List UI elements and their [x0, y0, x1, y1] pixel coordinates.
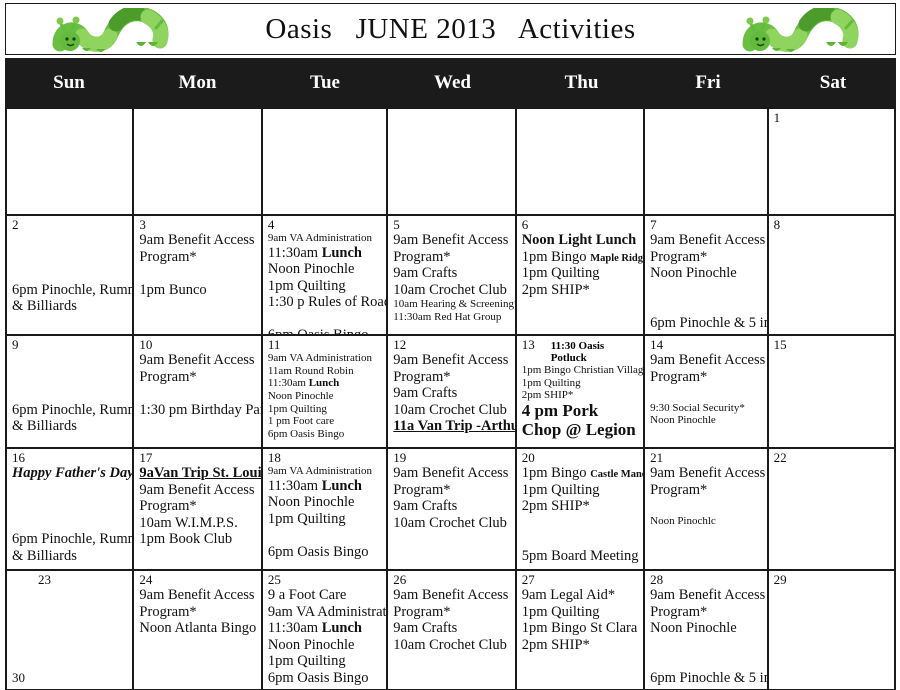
event-item: 9am Legal Aid*: [522, 587, 639, 604]
day-number: 21: [650, 451, 762, 465]
event-item: Noon Pinochle: [650, 265, 762, 282]
day-events: 1pm Bingo Castle Manor1pm Quilting2pm SH…: [522, 465, 639, 564]
day-cell-29[interactable]: 29: [769, 571, 894, 689]
event-item: Program*: [393, 604, 510, 621]
event-item: 9am Benefit Access: [650, 587, 762, 604]
day-cell-6[interactable]: 6Noon Light Lunch1pm Bingo Maple Ridge1p…: [517, 216, 645, 334]
event-item: 1pm Quilting: [268, 278, 382, 295]
event-item: 9am Crafts: [393, 620, 510, 637]
day-cell-10[interactable]: 109am Benefit AccessProgram* 1:30 pm Bir…: [134, 336, 262, 447]
day-cell-18[interactable]: 189am VA Administration11:30am LunchNoon…: [263, 449, 388, 569]
day-events: 1pm Bingo Christian Village1pm Quilting2…: [522, 364, 639, 439]
day-events: 9 a Foot Care9am VA Administration11:30a…: [268, 587, 382, 686]
event-item: Noon Pinochle: [268, 637, 382, 654]
day-events: 9am Legal Aid*1pm Quilting1pm Bingo St C…: [522, 587, 639, 653]
event-item: 10am W.I.M.P.S.: [139, 515, 256, 532]
event-item: 6pm Oasis Bingo: [268, 544, 382, 561]
event-item: Program*: [650, 249, 762, 266]
event-item: 6pm Oasis Bingo: [268, 670, 382, 687]
day-cell-empty[interactable]: [645, 109, 768, 214]
event-item: 1pm Bingo Maple Ridge: [522, 249, 639, 266]
day-number: 6: [522, 218, 639, 232]
day-events: 9am Benefit AccessProgram*9am Crafts10am…: [393, 352, 510, 435]
day-events: 9am Benefit AccessProgram*9am Crafts10am…: [393, 232, 510, 323]
event-item: 9am Benefit Access: [139, 232, 256, 249]
day-cell-28[interactable]: 289am Benefit AccessProgram*Noon Pinochl…: [645, 571, 768, 689]
day-number: 3: [139, 218, 256, 232]
event-item: Noon Pinochle: [268, 494, 382, 511]
event-item: Noon Pinochle: [650, 414, 762, 427]
event-item: 9am Benefit Access: [139, 482, 256, 499]
event-item: 9am Benefit Access: [139, 352, 256, 369]
event-item: 10am Crochet Club: [393, 282, 510, 299]
calendar-week-row: 2330249am Benefit AccessProgram*Noon Atl…: [7, 571, 894, 689]
day-cell-21[interactable]: 219am Benefit AccessProgram* Noon Pinoch…: [645, 449, 768, 569]
event-item: 1 pm Foot care: [268, 415, 382, 428]
event-item: 6pm Pinochle & 5 in: [650, 315, 762, 332]
event-item: Program*: [139, 249, 256, 266]
event-item: 11a Van Trip -Arthur: [393, 418, 510, 435]
day-number: 18: [268, 451, 382, 465]
day-cell-8[interactable]: 8: [769, 216, 894, 334]
day-number: 5: [393, 218, 510, 232]
event-item: Program*: [139, 604, 256, 621]
event-item: Noon Pinochle: [268, 390, 382, 403]
day-cell-20[interactable]: 201pm Bingo Castle Manor1pm Quilting2pm …: [517, 449, 645, 569]
day-events: 9am Benefit AccessProgram*Noon Pinochle …: [650, 587, 762, 686]
event-item: Program*: [139, 498, 256, 515]
day-cell-3[interactable]: 39am Benefit AccessProgram* 1pm Bunco: [134, 216, 262, 334]
event-item: 11:30am Lunch: [268, 620, 382, 637]
day-cell-9[interactable]: 9 6pm Pinochle, Rummy& Billiards: [7, 336, 134, 447]
event-item: 9am Benefit Access: [139, 587, 256, 604]
day-number: 10: [139, 338, 256, 352]
event-item: 9am Benefit Access: [393, 352, 510, 369]
weekday-header-tue: Tue: [262, 58, 388, 108]
day-cell-25[interactable]: 259 a Foot Care9am VA Administration11:3…: [263, 571, 388, 689]
weekday-header-thu: Thu: [517, 58, 646, 108]
event-item: 1:30 p Rules of Road: [268, 294, 382, 311]
page-title: Oasis JUNE 2013 Activities: [265, 13, 635, 46]
event-item: 9am Benefit Access: [650, 352, 762, 369]
day-number: 29: [774, 573, 890, 587]
calendar-week-row: 16Happy Father's Day! 6pm Pinochle, Rumm…: [7, 449, 894, 571]
event-item: Happy Father's Day!: [12, 465, 128, 482]
event-item: 1pm Quilting: [268, 511, 382, 528]
event-item: 10am Hearing & Screening*: [393, 298, 510, 311]
day-number: 23: [12, 573, 128, 587]
day-cell-7[interactable]: 79am Benefit AccessProgram*Noon Pinochle…: [645, 216, 768, 334]
event-item: Noon Atlanta Bingo: [139, 620, 256, 637]
event-item: 6pm Pinochle, Rummy: [12, 282, 128, 299]
day-events: 9am Benefit AccessProgram* 1pm Bunco: [139, 232, 256, 298]
caterpillar-icon: [742, 8, 866, 54]
event-item: & Billiards: [12, 548, 128, 565]
day-cell-24[interactable]: 249am Benefit AccessProgram*Noon Atlanta…: [134, 571, 262, 689]
event-item: 9am Crafts: [393, 498, 510, 515]
day-cell-14[interactable]: 149am Benefit AccessProgram* 9:30 Social…: [645, 336, 768, 447]
day-cell-26[interactable]: 269am Benefit AccessProgram*9am Crafts10…: [388, 571, 516, 689]
event-item: Program*: [650, 369, 762, 386]
weekday-header-mon: Mon: [133, 58, 262, 108]
day-events: 9am Benefit AccessProgram*9am Crafts10am…: [393, 465, 510, 531]
event-item: 9am VA Administration: [268, 465, 382, 478]
calendar-grid: 12 6pm Pinochle, Rummy& Billiards39am Be…: [5, 108, 896, 690]
event-item: 9am Crafts: [393, 385, 510, 402]
event-item: Noon Pinochlc: [650, 515, 762, 528]
day-events: 9am Benefit AccessProgram*Noon Pinochle …: [650, 232, 762, 331]
event-item: 11:30am Lunch: [268, 377, 382, 390]
event-item: 9am VA Administration: [268, 232, 382, 245]
day-number: 20: [522, 451, 639, 465]
day-number-overflow[interactable]: 30: [12, 670, 25, 686]
day-events: Happy Father's Day! 6pm Pinochle, Rummy&…: [12, 465, 128, 564]
event-item: Program*: [393, 249, 510, 266]
day-number: 2: [12, 218, 128, 232]
event-item: 11am Round Robin: [268, 365, 382, 378]
day-inline-note: 11:30 Oasis Potluck: [551, 340, 639, 364]
calendar-week-row: 9 6pm Pinochle, Rummy& Billiards109am Be…: [7, 336, 894, 449]
day-events: 9am Benefit AccessProgram* 9:30 Social S…: [650, 352, 762, 427]
weekday-header-row: SunMonTueWedThuFriSat: [5, 58, 896, 108]
calendar-week-row: 2 6pm Pinochle, Rummy& Billiards39am Ben…: [7, 216, 894, 336]
event-item: 9am Benefit Access: [650, 465, 762, 482]
event-item: 6pm Oasis Bingo: [268, 327, 382, 334]
event-item: 11:30am Red Hat Group: [393, 311, 510, 324]
day-cell-empty[interactable]: [134, 109, 262, 214]
event-item: 1pm Quilting: [268, 653, 382, 670]
weekday-header-sat: Sat: [770, 58, 896, 108]
day-number: 4: [268, 218, 382, 232]
day-events: 9am Benefit AccessProgram* 1:30 pm Birth…: [139, 352, 256, 418]
day-number: 28: [650, 573, 762, 587]
day-cell-2[interactable]: 2 6pm Pinochle, Rummy& Billiards: [7, 216, 134, 334]
caterpillar-icon: [52, 8, 176, 54]
day-number-with-note: 1311:30 Oasis Potluck: [522, 338, 639, 364]
day-cell-11[interactable]: 119am VA Administration11am Round Robin1…: [263, 336, 388, 447]
day-events: 9am Benefit AccessProgram* Noon Pinochlc: [650, 465, 762, 527]
day-events: 9am VA Administration11:30am LunchNoon P…: [268, 465, 382, 560]
day-cell-empty[interactable]: [388, 109, 516, 214]
day-number: 16: [12, 451, 128, 465]
event-item: Program*: [650, 482, 762, 499]
day-cell-1[interactable]: 1: [769, 109, 894, 214]
day-cell-22[interactable]: 22: [769, 449, 894, 569]
day-events: 9aVan Trip St. Louis9am Benefit AccessPr…: [139, 465, 256, 548]
day-events: 9am Benefit AccessProgram*9am Crafts10am…: [393, 587, 510, 653]
weekday-header-wed: Wed: [388, 58, 517, 108]
event-item: 10am Crochet Club: [393, 402, 510, 419]
event-item: 5pm Board Meeting: [522, 548, 639, 565]
day-number: 12: [393, 338, 510, 352]
event-item: 1pm Bingo St Clara: [522, 620, 639, 637]
day-cell-empty[interactable]: [7, 109, 134, 214]
event-item: 1pm Quilting: [522, 377, 639, 390]
day-cell-16[interactable]: 16Happy Father's Day! 6pm Pinochle, Rumm…: [7, 449, 134, 569]
event-item: 1pm Bingo Christian Village: [522, 364, 639, 377]
event-item: 9am VA Administration: [268, 352, 382, 365]
event-item: 9am Crafts: [393, 265, 510, 282]
event-item: Noon Pinochle: [268, 261, 382, 278]
event-item: 6pm Oasis Bingo: [268, 428, 382, 441]
event-item: 9am Benefit Access: [393, 587, 510, 604]
day-cell-13[interactable]: 1311:30 Oasis Potluck1pm Bingo Christian…: [517, 336, 645, 447]
event-item: 1pm Quilting: [522, 265, 639, 282]
event-item: 9am Benefit Access: [393, 465, 510, 482]
day-number: 9: [12, 338, 128, 352]
day-events: 9am VA Administration11am Round Robin11:…: [268, 352, 382, 440]
event-item: 6pm Pinochle & 5 in: [650, 670, 762, 687]
day-number: 19: [393, 451, 510, 465]
day-events: Noon Light Lunch1pm Bingo Maple Ridge1pm…: [522, 232, 639, 298]
day-cell-23[interactable]: 2330: [7, 571, 134, 689]
event-item: Program*: [139, 369, 256, 386]
event-item: 9aVan Trip St. Louis: [139, 465, 256, 482]
event-item: 6pm Pinochle, Rummy: [12, 402, 128, 419]
event-item: & Billiards: [12, 418, 128, 435]
event-item: 9 a Foot Care: [268, 587, 382, 604]
day-number: 25: [268, 573, 382, 587]
event-item: 1pm Book Club: [139, 531, 256, 548]
day-events: 9am VA Administration11:30am LunchNoon P…: [268, 232, 382, 334]
event-item: 6pm Pinochle, Rummy: [12, 531, 128, 548]
event-item: 1pm Quilting: [522, 482, 639, 499]
day-number: 8: [774, 218, 890, 232]
event-item: 11:30am Lunch: [268, 245, 382, 262]
day-number: 15: [774, 338, 890, 352]
event-item: 1:30 pm Birthday Party: [139, 402, 256, 419]
day-cell-19[interactable]: 19 9am Benefit AccessProgram*9am Crafts1…: [388, 449, 516, 569]
event-item: 11:30am Lunch: [268, 478, 382, 495]
event-item: Program*: [393, 369, 510, 386]
event-item: 4 pm Pork Chop @ Legion: [522, 402, 639, 439]
day-cell-27[interactable]: 279am Legal Aid*1pm Quilting1pm Bingo St…: [517, 571, 645, 689]
day-cell-4[interactable]: 49am VA Administration11:30am LunchNoon …: [263, 216, 388, 334]
day-cell-empty[interactable]: [517, 109, 645, 214]
event-item: & Billiards: [12, 298, 128, 315]
event-item: 10am Crochet Club: [393, 515, 510, 532]
day-events: 6pm Pinochle, Rummy& Billiards: [12, 352, 128, 435]
day-number: 22: [774, 451, 890, 465]
event-item: 9:30 Social Security*: [650, 402, 762, 415]
event-item: 2pm SHIP*: [522, 282, 639, 299]
day-cell-15[interactable]: 15: [769, 336, 894, 447]
weekday-header-fri: Fri: [646, 58, 770, 108]
day-number: 27: [522, 573, 639, 587]
event-item: 1pm Quilting: [522, 604, 639, 621]
day-number: 11: [268, 338, 382, 352]
event-item: Noon Pinochle: [650, 620, 762, 637]
day-number: 1: [774, 111, 890, 125]
event-item: 9am VA Administration: [268, 604, 382, 621]
event-item: Program*: [650, 604, 762, 621]
day-number: 14: [650, 338, 762, 352]
event-item: 9am Benefit Access: [650, 232, 762, 249]
day-cell-17[interactable]: 179aVan Trip St. Louis9am Benefit Access…: [134, 449, 262, 569]
event-item: 10am Crochet Club: [393, 637, 510, 654]
calendar-week-row: 1: [7, 109, 894, 216]
event-item: Noon Light Lunch: [522, 232, 639, 249]
weekday-header-sun: Sun: [5, 58, 133, 108]
day-number: 24: [139, 573, 256, 587]
event-item: Program*: [393, 482, 510, 499]
day-number: 7: [650, 218, 762, 232]
day-cell-empty[interactable]: [263, 109, 388, 214]
day-number: 13: [522, 338, 535, 352]
calendar-page: Oasis JUNE 2013 Activities: [0, 0, 900, 690]
event-item: 2pm SHIP*: [522, 637, 639, 654]
day-number: 26: [393, 573, 510, 587]
event-item: 1pm Bingo Castle Manor: [522, 465, 639, 482]
day-events: 6pm Pinochle, Rummy& Billiards: [12, 232, 128, 315]
calendar-title-bar: Oasis JUNE 2013 Activities: [5, 3, 896, 55]
day-cell-12[interactable]: 129am Benefit AccessProgram*9am Crafts10…: [388, 336, 516, 447]
event-item: 1pm Bunco: [139, 282, 256, 299]
day-cell-5[interactable]: 59am Benefit AccessProgram*9am Crafts10a…: [388, 216, 516, 334]
day-number: 17: [139, 451, 256, 465]
event-item: 9am Benefit Access: [393, 232, 510, 249]
event-item: 2pm SHIP*: [522, 498, 639, 515]
event-item: 1pm Quilting: [268, 403, 382, 416]
day-events: 9am Benefit AccessProgram*Noon Atlanta B…: [139, 587, 256, 637]
